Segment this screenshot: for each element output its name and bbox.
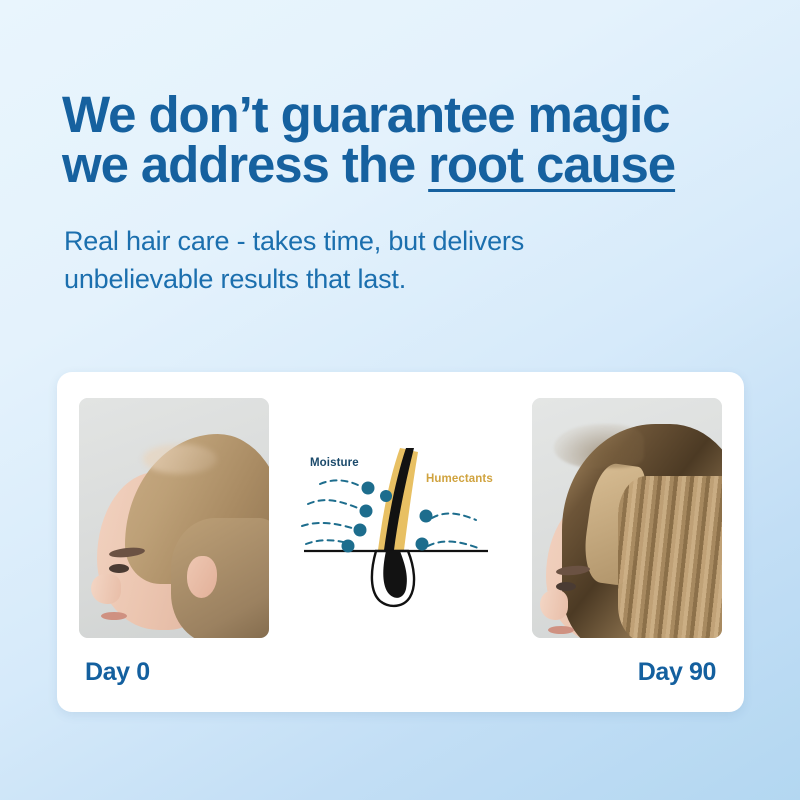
card-content: Day 0 bbox=[57, 372, 744, 712]
subheadline-line-2: unbelievable results that last. bbox=[64, 260, 704, 298]
page-headline: We don’t guarantee magic we address the … bbox=[62, 90, 772, 190]
hair-lower-mass bbox=[171, 518, 269, 638]
moisture-flow-lines bbox=[302, 480, 360, 544]
panel-day-90: Day 90 bbox=[532, 398, 722, 687]
subheadline-line-1: Real hair care - takes time, but deliver… bbox=[64, 222, 704, 260]
visible-scalp bbox=[143, 444, 217, 474]
eye bbox=[109, 564, 129, 573]
lips bbox=[101, 612, 127, 620]
follicle-illustration: Moisture Humectants bbox=[269, 398, 532, 638]
panel-day-0: Day 0 bbox=[79, 398, 269, 687]
photo-day-90 bbox=[532, 398, 722, 638]
hair-flyaways bbox=[554, 424, 644, 468]
lips bbox=[548, 626, 574, 634]
headline-line-1: We don’t guarantee magic bbox=[62, 90, 772, 140]
headline-emphasis-root-cause: root cause bbox=[428, 136, 675, 193]
nose bbox=[540, 590, 568, 620]
label-humectants: Humectants bbox=[426, 473, 493, 485]
label-moisture: Moisture bbox=[310, 457, 359, 469]
page-subheadline: Real hair care - takes time, but deliver… bbox=[64, 222, 704, 299]
headline-line-2-prefix: we address the bbox=[62, 136, 428, 193]
hair-strands bbox=[618, 476, 722, 638]
before-after-card: Day 0 bbox=[57, 372, 744, 712]
caption-day-90: Day 90 bbox=[532, 658, 722, 687]
caption-day-0: Day 0 bbox=[79, 658, 269, 687]
humectant-flow-lines bbox=[428, 513, 478, 547]
photo-day-0 bbox=[79, 398, 269, 638]
follicle-svg: Moisture Humectants bbox=[286, 426, 516, 611]
headline-line-2: we address the root cause bbox=[62, 140, 772, 190]
nose bbox=[91, 574, 121, 604]
